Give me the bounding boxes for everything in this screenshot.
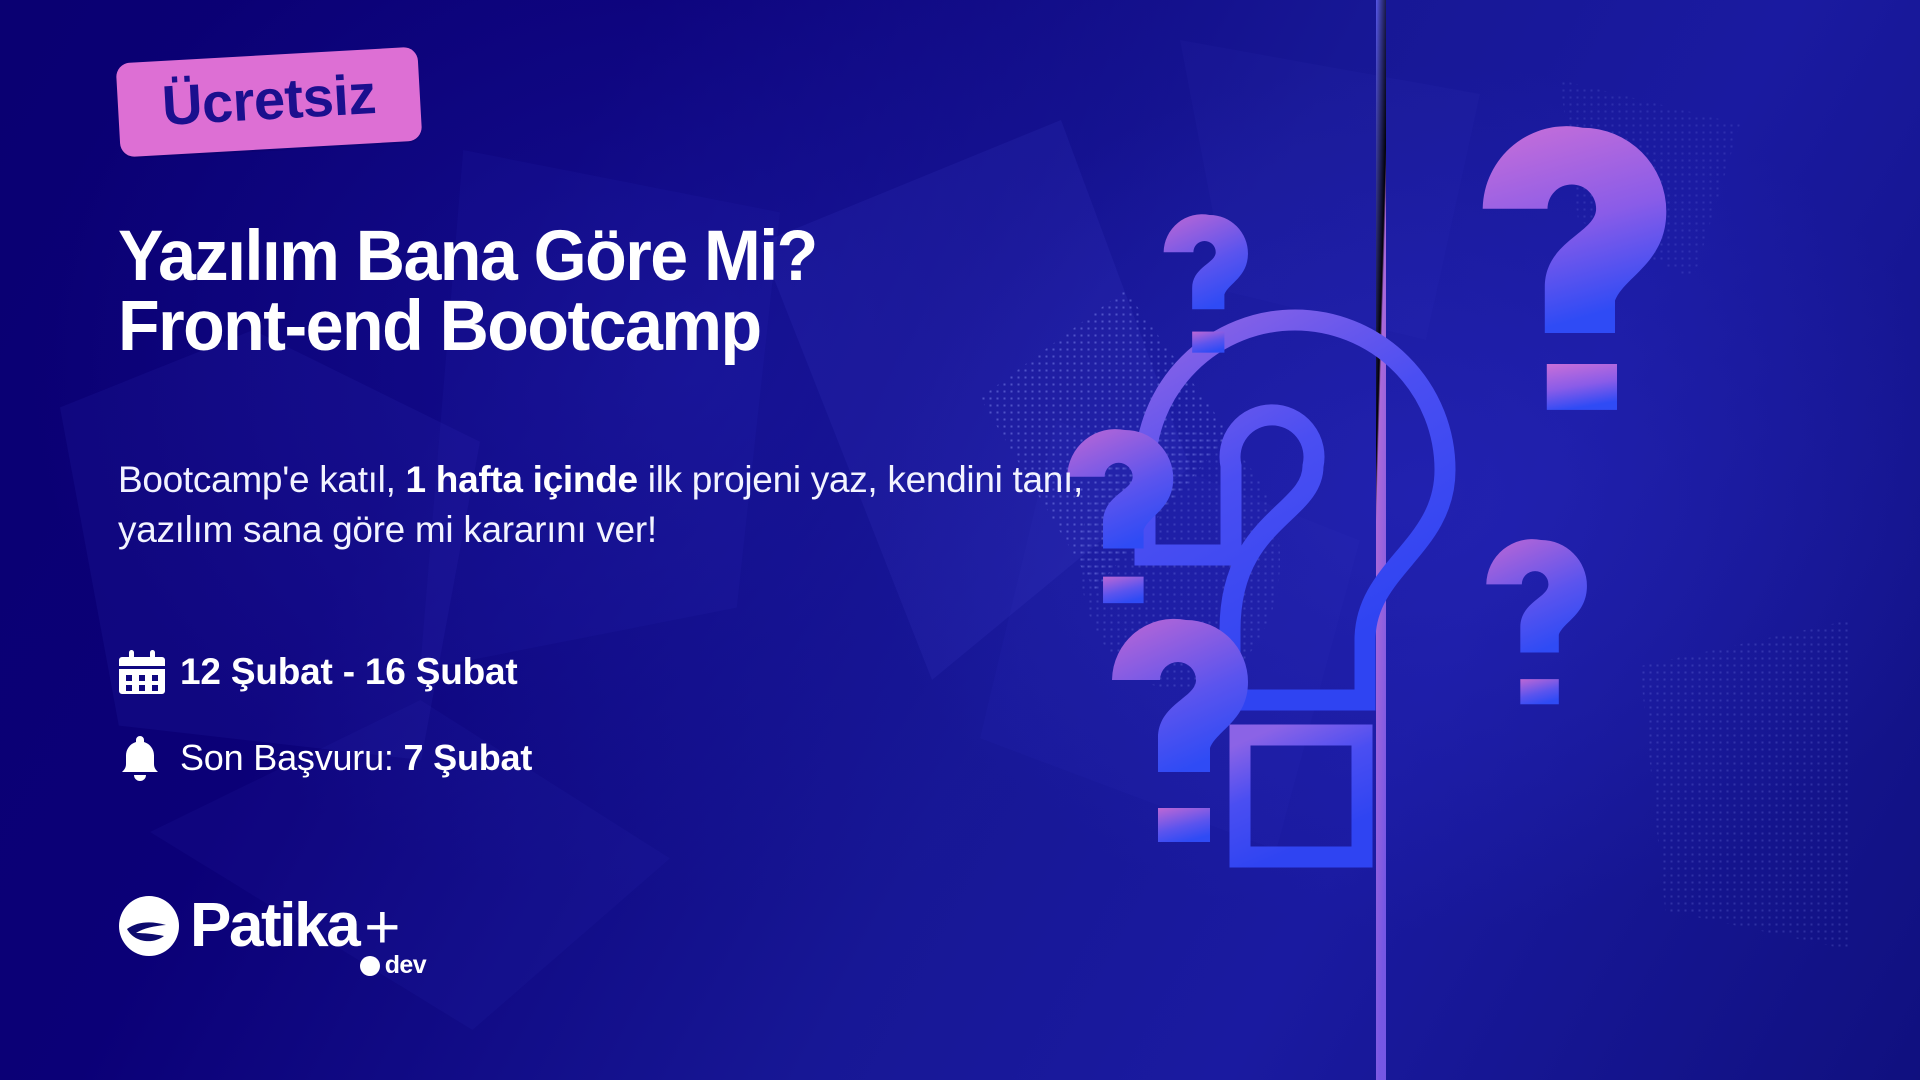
deadline-value: 7 Şubat <box>404 737 533 778</box>
free-badge: Ücretsiz <box>116 47 423 158</box>
patika-swoosh-icon <box>118 895 180 957</box>
banner-canvas: Ücretsiz Yazılım Bana Göre Mi? Front-end… <box>0 0 1920 1080</box>
logo-main-row: Patika + <box>118 895 478 957</box>
description-part-1: Bootcamp'e katıl, <box>118 459 406 500</box>
headline-line-2: Front-end Bootcamp <box>118 292 1059 362</box>
logo-wordmark: Patika <box>190 895 358 957</box>
page-title: Yazılım Bana Göre Mi? Front-end Bootcamp <box>118 222 1059 361</box>
logo-plus-icon: + <box>364 897 400 959</box>
description-emphasis: 1 hafta içinde <box>406 459 638 500</box>
patika-logo[interactable]: Patika + dev <box>118 895 478 980</box>
question-marks-graphic <box>1040 0 1920 1080</box>
description: Bootcamp'e katıl, 1 hafta içinde ilk pro… <box>118 455 1138 556</box>
event-date-text: 12 Şubat - 16 Şubat <box>180 651 518 693</box>
bell-icon <box>118 734 180 782</box>
deadline-label: Son Başvuru: <box>180 737 404 778</box>
banner-content: Ücretsiz Yazılım Bana Göre Mi? Front-end… <box>118 0 1168 1080</box>
headline-line-1: Yazılım Bana Göre Mi? <box>118 217 817 296</box>
deadline-row: Son Başvuru: 7 Şubat <box>118 726 532 790</box>
event-date-row: 12 Şubat - 16 Şubat <box>118 640 532 704</box>
event-details: 12 Şubat - 16 Şubat Son Başvuru: 7 Şubat <box>118 640 532 812</box>
calendar-icon <box>118 648 180 696</box>
free-badge-label: Ücretsiz <box>160 66 377 134</box>
deadline-text: Son Başvuru: 7 Şubat <box>180 737 532 779</box>
